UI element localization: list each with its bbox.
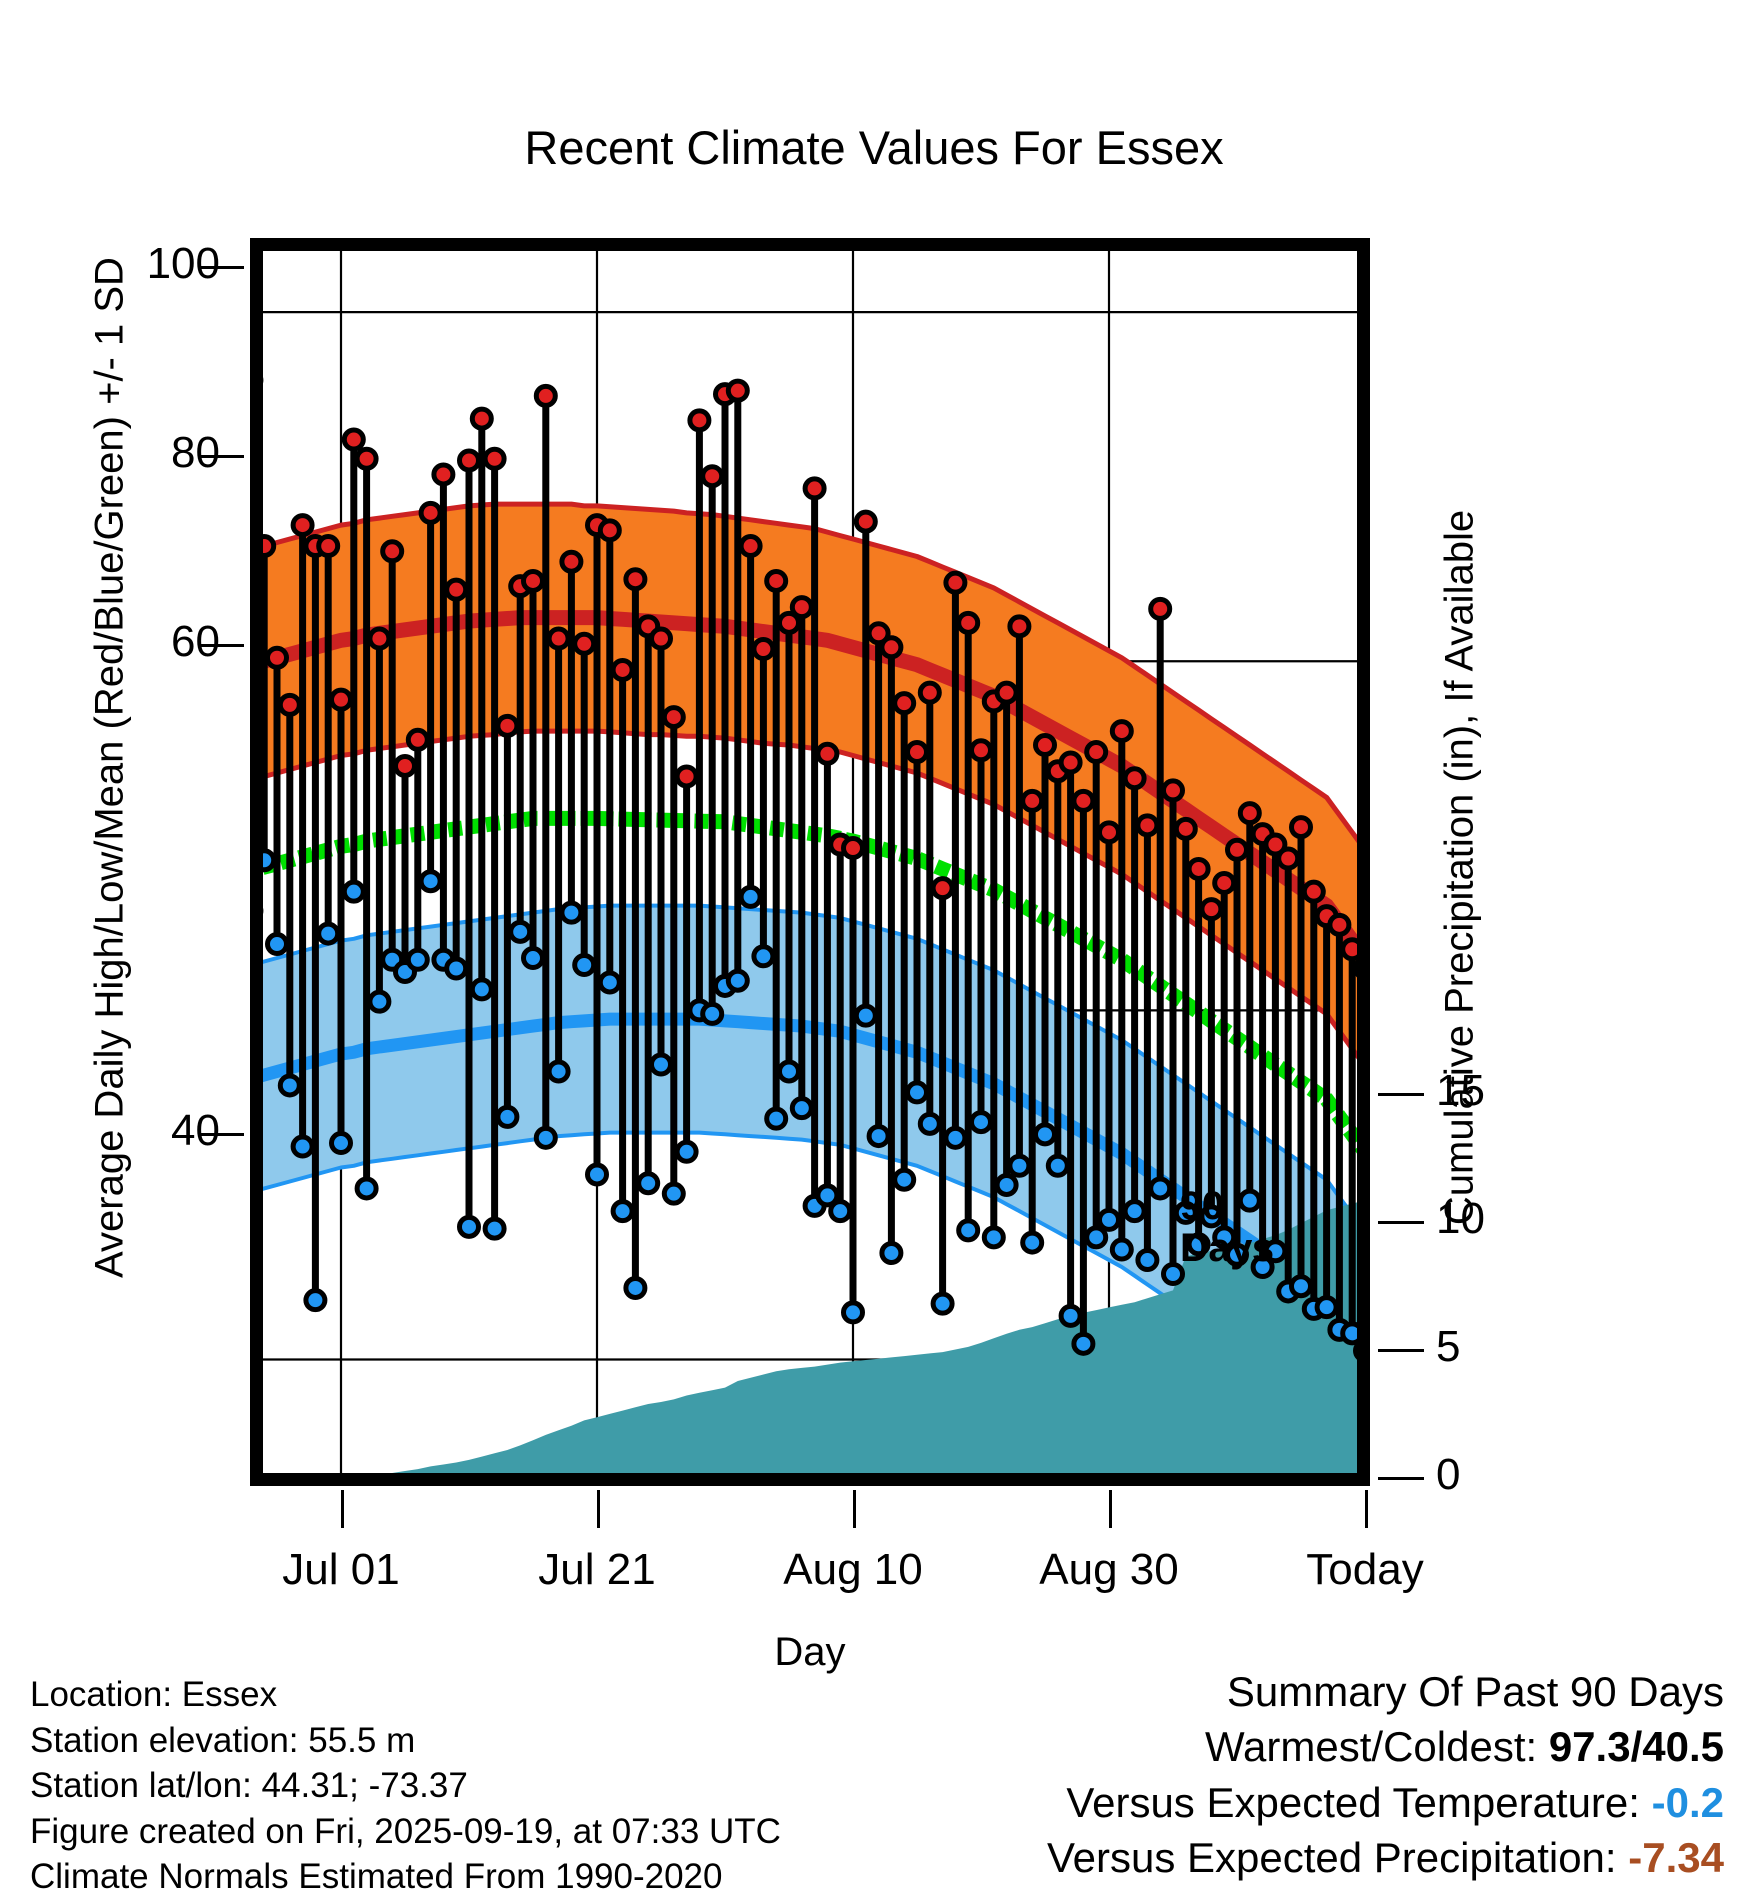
y-tick-mark-100: [198, 266, 244, 269]
y2-tick-mark-15: [1378, 1093, 1424, 1096]
y2-tick-label-5: 5: [1436, 1322, 1636, 1372]
plot-frame: [250, 238, 1370, 1486]
vs-temperature-value: -0.2: [1652, 1779, 1724, 1826]
x-tick-mark-aug30: [1109, 1490, 1112, 1528]
y2-tick-mark-5: [1378, 1349, 1424, 1352]
meta-latlon: Station lat/lon: 44.31; -73.37: [30, 1763, 781, 1809]
x-tick-mark-jul21: [597, 1490, 600, 1528]
x-tick-mark-today: [1365, 1490, 1368, 1528]
page-title: Recent Climate Values For Essex: [0, 120, 1748, 175]
figure-metadata: Location: Essex Station elevation: 55.5 …: [30, 1672, 781, 1900]
meta-created: Figure created on Fri, 2025-09-19, at 07…: [30, 1809, 781, 1855]
badge-90-days: 90 Days: [1180, 1186, 1274, 1269]
x-tick-label-jul21: Jul 21: [447, 1545, 747, 1595]
y2-tick-label-15: 15: [1436, 1066, 1636, 1116]
y-tick-label-60: 60: [30, 617, 220, 667]
warmest-coldest-label: Warmest/Coldest:: [1205, 1723, 1537, 1770]
y2-tick-label-10: 10: [1436, 1194, 1636, 1244]
x-tick-mark-aug10: [853, 1490, 856, 1528]
summary-title: Summary Of Past 90 Days: [1047, 1664, 1724, 1719]
x-tick-mark-jul01: [341, 1490, 344, 1528]
x-tick-label-aug10: Aug 10: [703, 1545, 1003, 1595]
y2-tick-mark-0: [1378, 1477, 1424, 1480]
y-tick-mark-80: [198, 455, 244, 458]
y-axis-right-label: Cumulative Precipitation (in), If Availa…: [1438, 328, 1483, 1408]
y-tick-label-40: 40: [30, 1106, 220, 1156]
y-tick-mark-40: [198, 1133, 244, 1136]
y-tick-label-100: 100: [30, 239, 220, 289]
warmest-coldest-value: 97.3/40.5: [1549, 1723, 1724, 1770]
badge-line-2: Days: [1180, 1228, 1274, 1270]
plot-area: 90 Days: [250, 238, 1370, 1486]
y2-tick-mark-10: [1378, 1221, 1424, 1224]
vs-temperature-label: Versus Expected Temperature:: [1066, 1779, 1640, 1826]
meta-location: Location: Essex: [30, 1672, 781, 1718]
y2-tick-label-0: 0: [1436, 1450, 1636, 1500]
vs-precipitation-value: -7.34: [1628, 1834, 1724, 1881]
x-tick-label-jul01: Jul 01: [191, 1545, 491, 1595]
y-tick-label-80: 80: [30, 428, 220, 478]
x-tick-label-today: Today: [1215, 1545, 1515, 1595]
summary-warmest-coldest: Warmest/Coldest: 97.3/40.5: [1047, 1719, 1724, 1774]
summary-vs-temperature: Versus Expected Temperature: -0.2: [1047, 1775, 1724, 1830]
meta-normals: Climate Normals Estimated From 1990-2020: [30, 1854, 781, 1900]
summary-panel: Summary Of Past 90 Days Warmest/Coldest:…: [1047, 1664, 1724, 1886]
meta-elevation: Station elevation: 55.5 m: [30, 1718, 781, 1764]
x-tick-label-aug30: Aug 30: [959, 1545, 1259, 1595]
summary-vs-precipitation: Versus Expected Precipitation: -7.34: [1047, 1830, 1724, 1885]
climate-figure: Recent Climate Values For Essex Average …: [0, 0, 1748, 1828]
vs-precipitation-label: Versus Expected Precipitation:: [1047, 1834, 1617, 1881]
y-tick-mark-60: [198, 644, 244, 647]
badge-line-1: 90: [1180, 1186, 1274, 1228]
